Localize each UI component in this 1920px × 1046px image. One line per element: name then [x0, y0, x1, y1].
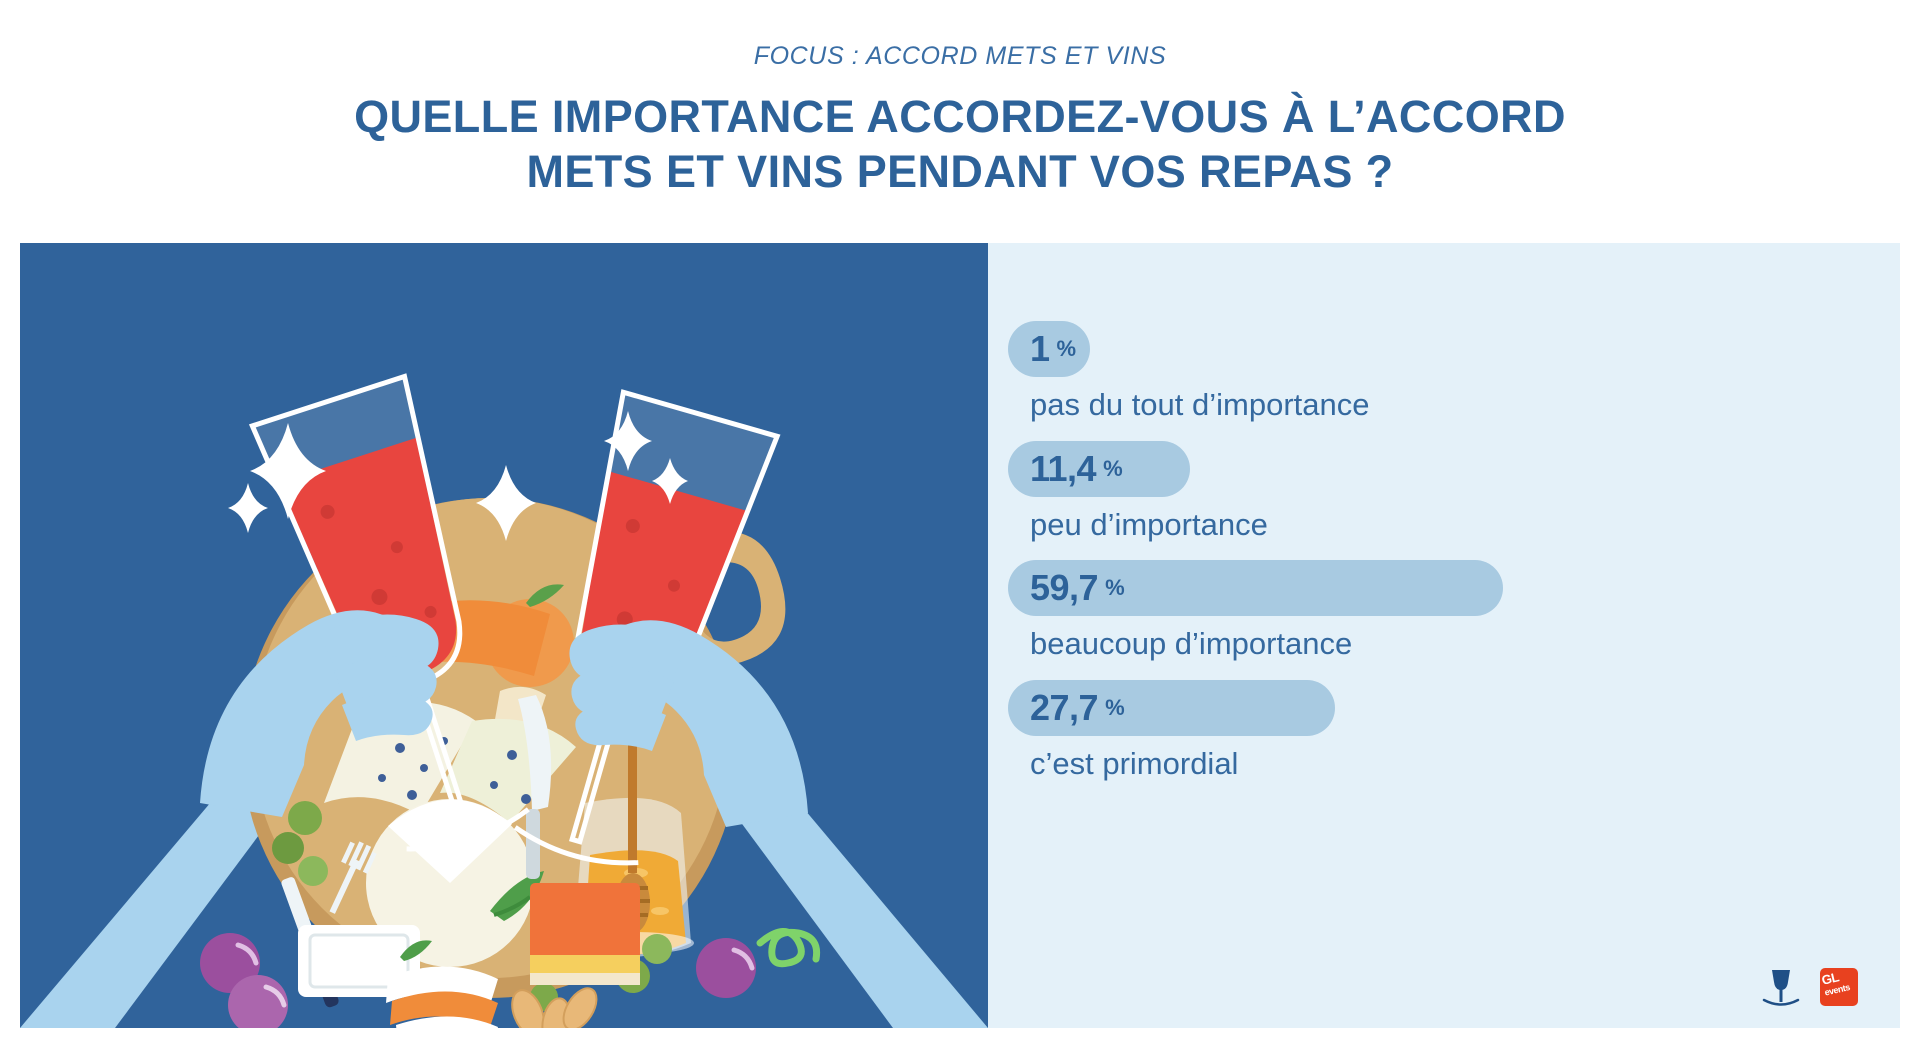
logo-group: GL events — [1758, 964, 1858, 1010]
data-panel: 1 % pas du tout d’importance 11,4 % peu … — [988, 243, 1900, 1028]
illustration-panel — [20, 243, 988, 1028]
bar-row: 11,4 % peu d’importance — [1008, 441, 1888, 543]
gl-events-logo-text: GL events — [1821, 969, 1851, 998]
percent-sign: % — [1105, 577, 1125, 599]
gl-events-logo: GL events — [1820, 968, 1858, 1006]
bar-value: 1 — [1030, 331, 1050, 367]
bar-value: 11,4 — [1030, 451, 1096, 487]
bar-pill: 27,7 % — [1008, 680, 1335, 736]
eyebrow-label: FOCUS : ACCORD METS ET VINS — [754, 42, 1167, 71]
bar-value: 27,7 — [1030, 690, 1098, 726]
bar-label: c’est primordial — [1030, 746, 1888, 782]
bar-row: 1 % pas du tout d’importance — [1008, 321, 1888, 423]
bar-pill: 59,7 % — [1008, 560, 1503, 616]
bar-pill: 1 % — [1008, 321, 1090, 377]
bar-row: 27,7 % c’est primordial — [1008, 680, 1888, 782]
percent-sign: % — [1057, 338, 1077, 360]
page-title: QUELLE IMPORTANCE ACCORDEZ-VOUS À L’ACCO… — [354, 89, 1566, 200]
wine-glass-logo-icon — [1758, 964, 1804, 1010]
page-title-line-1: QUELLE IMPORTANCE ACCORDEZ-VOUS À L’ACCO… — [354, 89, 1566, 144]
percent-sign: % — [1105, 697, 1125, 719]
bar-label: pas du tout d’importance — [1030, 387, 1888, 423]
bar-label: peu d’importance — [1030, 507, 1888, 543]
content-panels: 1 % pas du tout d’importance 11,4 % peu … — [20, 243, 1900, 1028]
cheese-board-illustration — [20, 243, 988, 1028]
bar-row: 59,7 % beaucoup d’importance — [1008, 560, 1888, 662]
bar-value: 59,7 — [1030, 570, 1098, 606]
footer-strip — [0, 1028, 1920, 1046]
bar-chart: 1 % pas du tout d’importance 11,4 % peu … — [1008, 321, 1888, 800]
bar-label: beaucoup d’importance — [1030, 626, 1888, 662]
page-header: FOCUS : ACCORD METS ET VINS QUELLE IMPOR… — [0, 0, 1920, 243]
percent-sign: % — [1103, 458, 1123, 480]
page-title-line-2: METS ET VINS PENDANT VOS REPAS ? — [354, 144, 1566, 199]
bar-pill: 11,4 % — [1008, 441, 1190, 497]
